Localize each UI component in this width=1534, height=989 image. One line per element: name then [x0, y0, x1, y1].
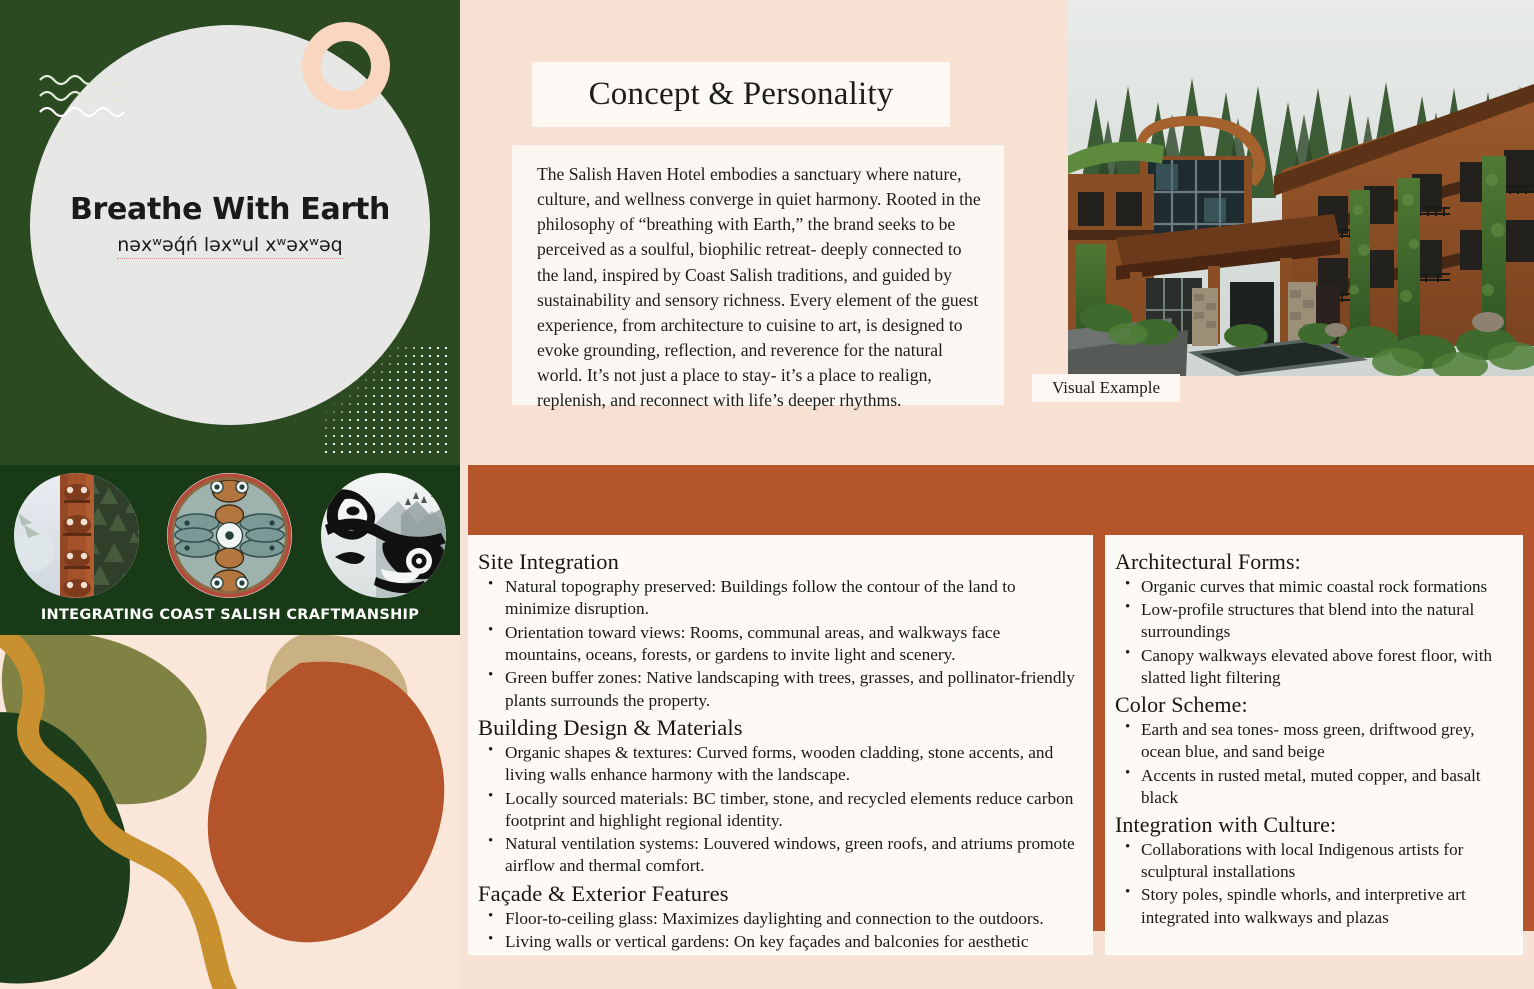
list-item: Organic shapes & textures: Curved forms,… [478, 742, 1077, 787]
list-item: Canopy walkways elevated above forest fl… [1115, 645, 1509, 689]
list-item: Low-profile structures that blend into t… [1115, 599, 1509, 643]
list-item: Orientation toward views: Rooms, communa… [478, 622, 1077, 667]
section-integration-culture: Integration with Culture: Collaborations… [1115, 812, 1509, 929]
peach-ring-decoration [302, 22, 390, 110]
bullet-list: Natural topography preserved: Buildings … [478, 576, 1077, 712]
concept-body-box: The Salish Haven Hotel embodies a sanctu… [512, 145, 1004, 405]
list-item: Earth and sea tones- moss green, driftwo… [1115, 719, 1509, 763]
craft-image-row [0, 475, 460, 595]
list-item: Green buffer zones: Native landscaping w… [478, 667, 1077, 712]
presentation-slide: Breathe With Earth nəxʷəq́ń ləxʷul xʷəxʷ… [0, 0, 1534, 989]
organic-blob-decoration [0, 635, 460, 989]
section-building-design: Building Design & Materials Organic shap… [478, 715, 1077, 878]
concept-heading: Concept & Personality [589, 76, 894, 113]
list-item: Accents in rusted metal, muted copper, a… [1115, 765, 1509, 809]
list-item: Natural ventilation systems: Louvered wi… [478, 833, 1077, 878]
hotel-visual-photo [1068, 0, 1534, 376]
section-heading: Site Integration [478, 549, 1077, 575]
list-item: Collaborations with local Indigenous art… [1115, 839, 1509, 883]
section-site-integration: Site Integration Natural topography pres… [478, 549, 1077, 712]
section-heading: Façade & Exterior Features [478, 881, 1077, 907]
concept-area: Concept & Personality The Salish Haven H… [460, 0, 1070, 465]
wave-lines-icon [38, 70, 153, 120]
craftmanship-caption: INTEGRATING COAST SALISH CRAFTMANSHIP [0, 607, 460, 623]
bullet-list: Organic curves that mimic coastal rock f… [1115, 576, 1509, 689]
design-details-panel-right: Architectural Forms: Organic curves that… [1105, 535, 1523, 955]
section-facade-exterior: Façade & Exterior Features Floor-to-ceil… [478, 881, 1077, 955]
section-heading: Color Scheme: [1115, 692, 1509, 718]
craftmanship-block: INTEGRATING COAST SALISH CRAFTMANSHIP [0, 465, 460, 635]
spindle-whorl-art [167, 473, 292, 598]
bullet-list: Floor-to-ceiling glass: Maximizes daylig… [478, 908, 1077, 955]
design-details-panel-left: Site Integration Natural topography pres… [468, 535, 1093, 955]
brand-title: Breathe With Earth [70, 192, 390, 227]
brand-subtitle-salish: nəxʷəq́ń ləxʷul xʷəxʷəq [117, 234, 342, 259]
section-color-scheme: Color Scheme: Earth and sea tones- moss … [1115, 692, 1509, 809]
list-item: Locally sourced materials: BC timber, st… [478, 788, 1077, 833]
bullet-list: Organic shapes & textures: Curved forms,… [478, 742, 1077, 878]
list-item: Natural topography preserved: Buildings … [478, 576, 1077, 621]
visual-example-label: Visual Example [1032, 374, 1180, 402]
abstract-shapes-illustration [0, 635, 460, 989]
section-heading: Building Design & Materials [478, 715, 1077, 741]
list-item: Floor-to-ceiling glass: Maximizes daylig… [478, 908, 1077, 930]
totem-pole-photo [14, 473, 139, 598]
concept-heading-box: Concept & Personality [532, 62, 950, 127]
concept-body-text: The Salish Haven Hotel embodies a sanctu… [537, 162, 982, 414]
bullet-list: Collaborations with local Indigenous art… [1115, 839, 1509, 929]
brand-block: Breathe With Earth nəxʷəq́ń ləxʷul xʷəxʷ… [0, 0, 460, 465]
list-item: Living walls or vertical gardens: On key… [478, 931, 1077, 955]
orca-formline-art [321, 473, 446, 598]
list-item: Organic curves that mimic coastal rock f… [1115, 576, 1509, 598]
section-heading: Architectural Forms: [1115, 549, 1509, 575]
left-column: Breathe With Earth nəxʷəq́ń ləxʷul xʷəxʷ… [0, 0, 460, 989]
bullet-list: Earth and sea tones- moss green, driftwo… [1115, 719, 1509, 809]
section-heading: Integration with Culture: [1115, 812, 1509, 838]
list-item: Story poles, spindle whorls, and interpr… [1115, 884, 1509, 928]
section-architectural-forms: Architectural Forms: Organic curves that… [1115, 549, 1509, 689]
